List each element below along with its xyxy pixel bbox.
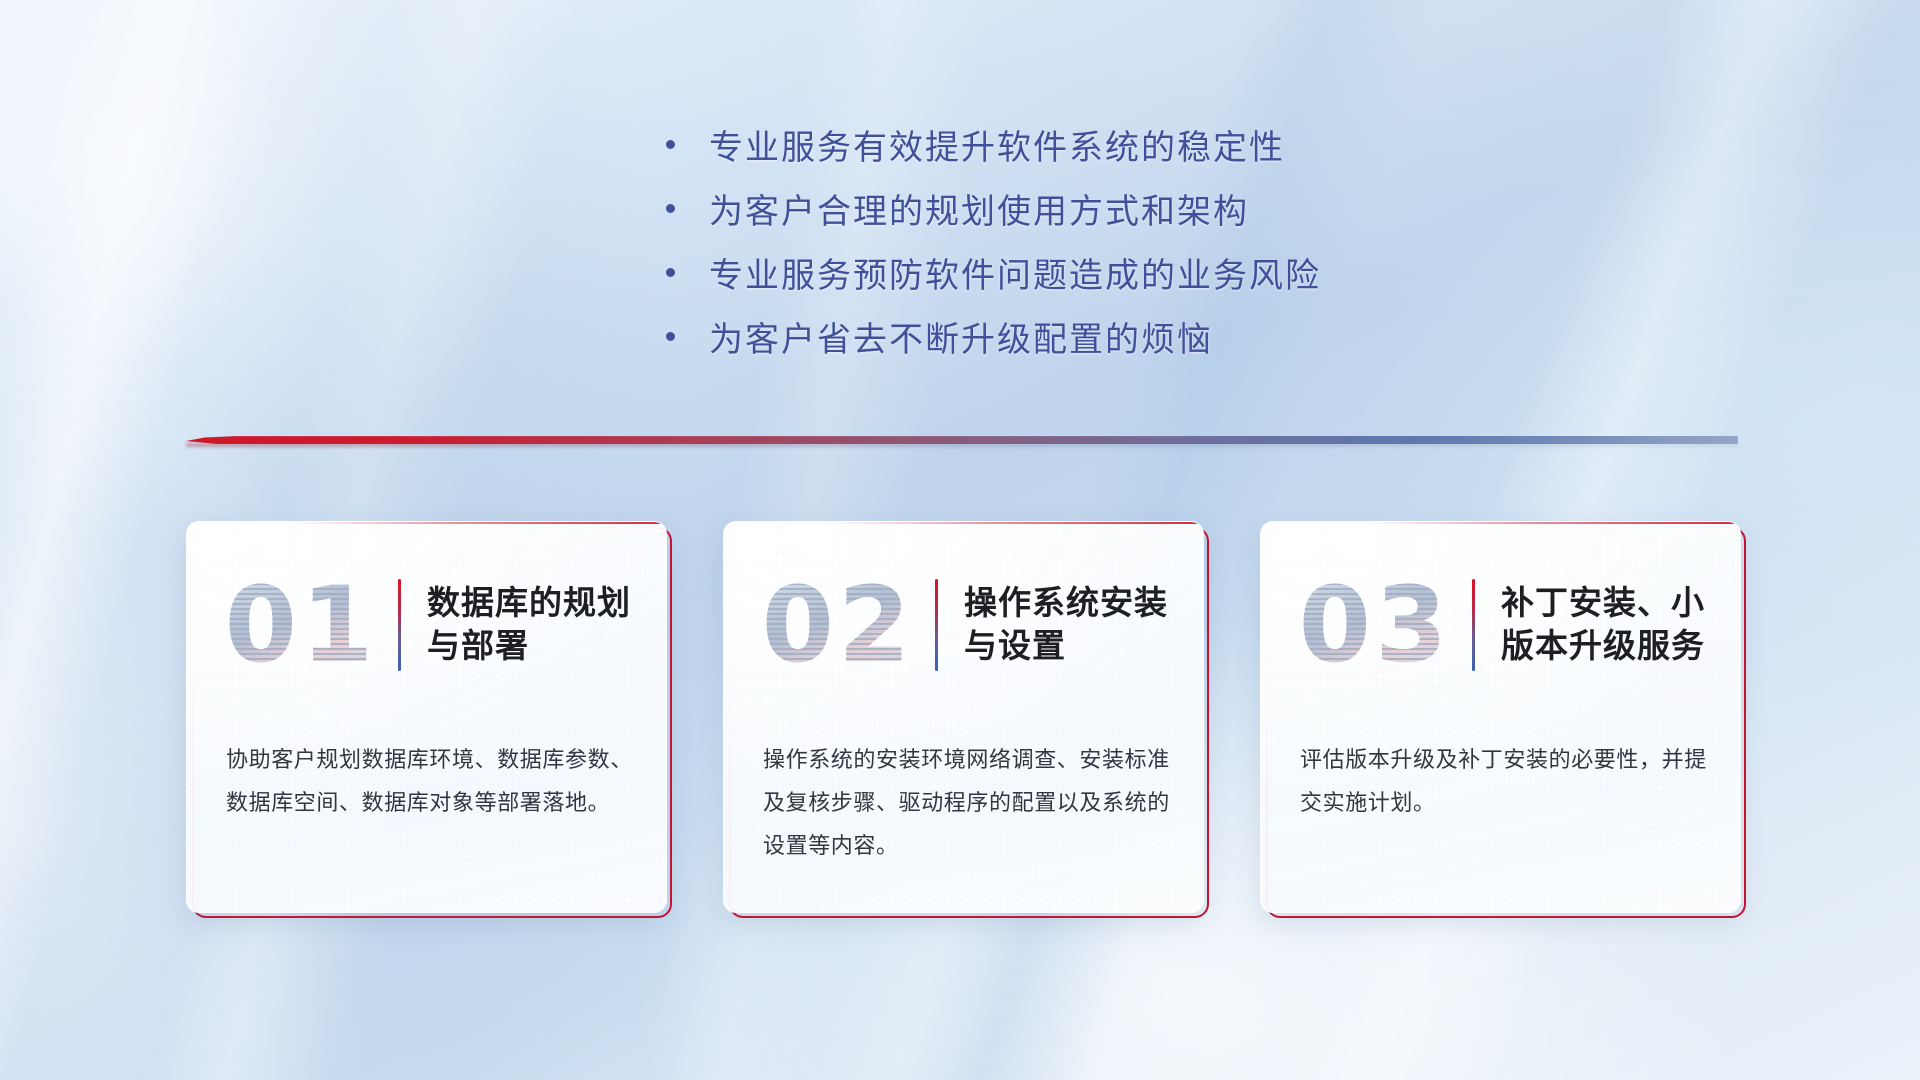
benefits-bullet-list: 专业服务有效提升软件系统的稳定性 为客户合理的规划使用方式和架构 专业服务预防软… (666, 112, 1321, 368)
service-card-group: 01 数据库的规划与部署 协助客户规划数据库环境、数据库参数、数据库空间、数据库… (186, 521, 1741, 921)
divider-bar (186, 436, 1738, 444)
card-divider-line (398, 579, 401, 671)
card-body-text: 评估版本升级及补丁安装的必要性，并提交实施计划。 (1300, 739, 1707, 825)
card-title: 数据库的规划与部署 (427, 582, 657, 668)
card-header: 01 数据库的规划与部署 (186, 521, 667, 729)
card-number: 01 (225, 573, 378, 677)
card-body-text: 操作系统的安装环境网络调查、安装标准及复核步骤、驱动程序的配置以及系统的设置等内… (763, 739, 1170, 868)
card-header: 02 操作系统安装与设置 (723, 521, 1204, 729)
bullet-dot-icon (666, 332, 675, 341)
bullet-dot-icon (666, 140, 675, 149)
card-body-text: 协助客户规划数据库环境、数据库参数、数据库空间、数据库对象等部署落地。 (226, 739, 633, 825)
bullet-dot-icon (666, 268, 675, 277)
list-item: 为客户省去不断升级配置的烦恼 (666, 304, 1321, 368)
bullet-text: 专业服务预防软件问题造成的业务风险 (709, 248, 1321, 297)
service-card[interactable]: 01 数据库的规划与部署 协助客户规划数据库环境、数据库参数、数据库空间、数据库… (186, 521, 667, 913)
card-divider-line (935, 579, 938, 671)
list-item: 专业服务预防软件问题造成的业务风险 (666, 240, 1321, 304)
section-divider (186, 430, 1738, 452)
service-card[interactable]: 02 操作系统安装与设置 操作系统的安装环境网络调查、安装标准及复核步骤、驱动程… (723, 521, 1204, 913)
bullet-text: 专业服务有效提升软件系统的稳定性 (709, 120, 1285, 169)
slide-canvas: 专业服务有效提升软件系统的稳定性 为客户合理的规划使用方式和架构 专业服务预防软… (0, 0, 1920, 1080)
bullet-text: 为客户省去不断升级配置的烦恼 (709, 312, 1213, 361)
card-header: 03 补丁安装、小版本升级服务 (1260, 521, 1741, 729)
service-card[interactable]: 03 补丁安装、小版本升级服务 评估版本升级及补丁安装的必要性，并提交实施计划。 (1260, 521, 1741, 913)
card-number-badge: 02 (745, 560, 931, 690)
card-number-badge: 01 (208, 560, 394, 690)
bullet-text: 为客户合理的规划使用方式和架构 (709, 184, 1249, 233)
card-number: 03 (1299, 573, 1452, 677)
card-title: 补丁安装、小版本升级服务 (1501, 582, 1731, 668)
card-divider-line (1472, 579, 1475, 671)
card-title: 操作系统安装与设置 (964, 582, 1194, 668)
bullet-dot-icon (666, 204, 675, 213)
card-number-badge: 03 (1282, 560, 1468, 690)
list-item: 为客户合理的规划使用方式和架构 (666, 176, 1321, 240)
list-item: 专业服务有效提升软件系统的稳定性 (666, 112, 1321, 176)
card-number: 02 (762, 573, 915, 677)
